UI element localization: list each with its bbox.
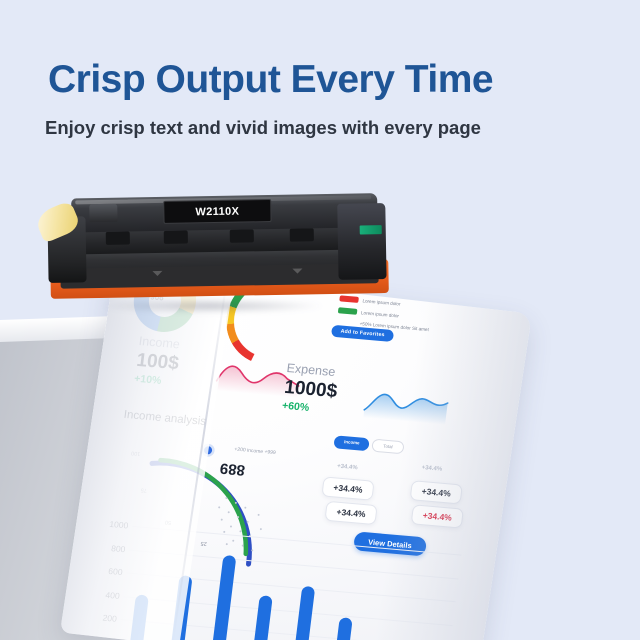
- cartridge-vent: [106, 231, 130, 244]
- kpi-expense-value: 1000$: [283, 377, 338, 403]
- printed-page: 906 Lorem ipsum dolor Lorem ipsum dolor …: [60, 266, 532, 640]
- page-title: Crisp Output Every Time: [48, 58, 493, 102]
- cartridge-model-text: W2110X: [195, 205, 239, 218]
- cartridge-vent: [230, 229, 254, 242]
- cartridge-model-label: W2110X: [163, 199, 271, 224]
- bar-3: [212, 555, 237, 640]
- cartridge-vent: [164, 230, 188, 243]
- kpi-expense: Expense 1000$ +60%: [281, 361, 340, 416]
- cartridge-handle: [89, 204, 117, 222]
- cartridge-arrow-marker-icon: [152, 271, 162, 276]
- bar-4: [253, 595, 273, 640]
- cartridge-arrow-marker-icon: [292, 268, 302, 273]
- page-subtitle: Enjoy crisp text and vivid images with e…: [45, 117, 481, 139]
- promo-banner: Crisp Output Every Time Enjoy crisp text…: [0, 0, 640, 640]
- cartridge-endcap-right: [337, 203, 386, 280]
- bar-5: [293, 586, 315, 640]
- cartridge-vent: [290, 228, 314, 241]
- toner-cartridge: W2110X: [41, 185, 389, 309]
- gauge-value: 889: [219, 459, 246, 478]
- cartridge-smart-chip: [360, 225, 382, 234]
